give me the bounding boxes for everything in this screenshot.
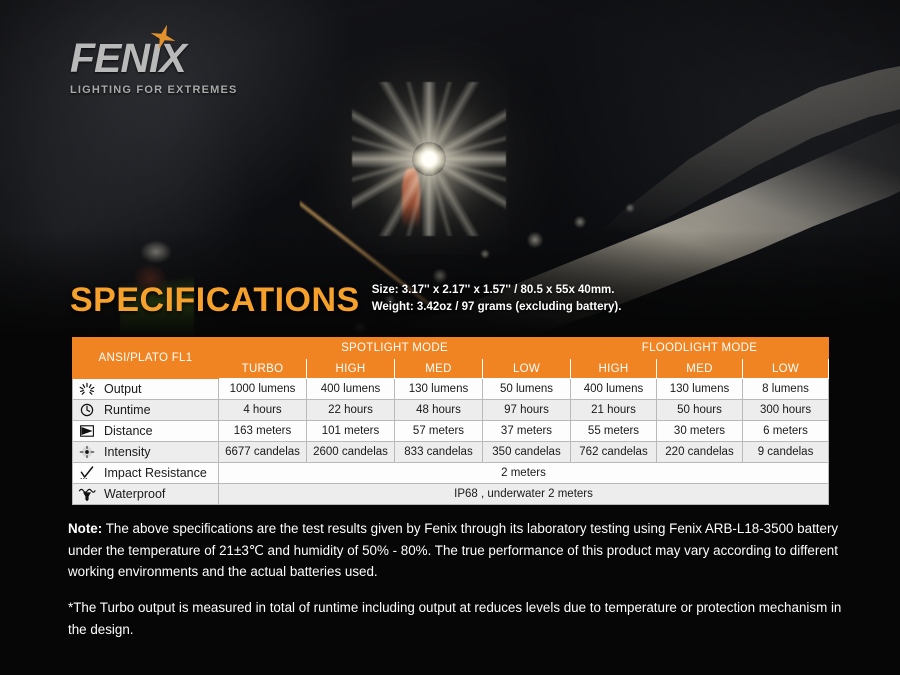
size-line: Size: 3.17'' x 2.17'' x 1.57'' / 80.5 x … [372, 282, 622, 299]
row-label-intensity: Intensity [73, 442, 219, 463]
cell-distance-flood-high: 55 meters [571, 421, 657, 442]
row-label-waterproof: Waterproof [73, 484, 219, 505]
table-row: Impact Resistance 2 meters [73, 463, 829, 484]
impact-drop-check-icon [77, 465, 97, 481]
cell-runtime-spot-low: 97 hours [483, 400, 571, 421]
cell-distance-spot-turbo: 163 meters [219, 421, 307, 442]
row-label-distance: Distance [73, 421, 219, 442]
specifications-page: FENIX LIGHTING FOR EXTREMES SPECIFICATIO… [0, 0, 900, 675]
dimensions-block: Size: 3.17'' x 2.17'' x 1.57'' / 80.5 x … [372, 282, 622, 317]
cell-output-flood-med: 130 lumens [657, 379, 743, 400]
header-floodlight-mode: FLOODLIGHT MODE [571, 338, 829, 359]
cell-distance-spot-high: 101 meters [307, 421, 395, 442]
cell-runtime-spot-high: 22 hours [307, 400, 395, 421]
clock-icon [77, 402, 97, 418]
fenix-wordmark-text: FENIX [70, 35, 186, 81]
note-main-text: The above specifications are the test re… [68, 521, 838, 579]
cell-runtime-flood-low: 300 hours [743, 400, 829, 421]
cell-output-spot-med: 130 lumens [395, 379, 483, 400]
cell-runtime-flood-med: 50 hours [657, 400, 743, 421]
cell-intensity-spot-high: 2600 candelas [307, 442, 395, 463]
note-turbo: *The Turbo output is measured in total o… [68, 597, 856, 640]
cell-distance-spot-low: 37 meters [483, 421, 571, 442]
cell-output-spot-low: 50 lumens [483, 379, 571, 400]
table-row: Waterproof IP68 , underwater 2 meters [73, 484, 829, 505]
fenix-wordmark: FENIX [70, 38, 238, 79]
cell-output-flood-high: 400 lumens [571, 379, 657, 400]
cell-output-spot-high: 400 lumens [307, 379, 395, 400]
row-label-text: Impact Resistance [104, 466, 207, 480]
cell-distance-flood-med: 30 meters [657, 421, 743, 442]
cell-intensity-flood-low: 9 candelas [743, 442, 829, 463]
table-row: Output 1000 lumens 400 lumens 130 lumens… [73, 379, 829, 400]
intensity-dot-icon [77, 444, 97, 460]
cell-intensity-flood-med: 220 candelas [657, 442, 743, 463]
header-floodlight-med: MED [657, 359, 743, 379]
header-spotlight-mode: SPOTLIGHT MODE [219, 338, 571, 359]
specifications-table: ANSI/PLATO FL1 SPOTLIGHT MODE FLOODLIGHT… [72, 337, 829, 505]
cell-intensity-spot-low: 350 candelas [483, 442, 571, 463]
note-main: Note: The above specifications are the t… [68, 518, 856, 583]
row-label-text: Runtime [104, 403, 151, 417]
row-label-text: Intensity [104, 445, 151, 459]
header-floodlight-high: HIGH [571, 359, 657, 379]
page-title: SPECIFICATIONS [70, 283, 360, 317]
cell-runtime-spot-turbo: 4 hours [219, 400, 307, 421]
row-label-output: Output [73, 379, 219, 400]
header-spotlight-med: MED [395, 359, 483, 379]
table-row: Runtime 4 hours 22 hours 48 hours 97 hou… [73, 400, 829, 421]
row-label-runtime: Runtime [73, 400, 219, 421]
header-spotlight-turbo: TURBO [219, 359, 307, 379]
header-floodlight-low: LOW [743, 359, 829, 379]
cell-impact-resistance-value: 2 meters [219, 463, 829, 484]
cell-distance-flood-low: 6 meters [743, 421, 829, 442]
light-burst-icon [77, 381, 97, 397]
header-ansi-plato: ANSI/PLATO FL1 [73, 338, 219, 379]
note-lead-label: Note: [68, 521, 102, 536]
table-group-header-row: ANSI/PLATO FL1 SPOTLIGHT MODE FLOODLIGHT… [73, 338, 829, 359]
row-label-text: Distance [104, 424, 153, 438]
weight-line: Weight: 3.42oz / 97 grams (excluding bat… [372, 299, 622, 316]
cell-intensity-spot-med: 833 candelas [395, 442, 483, 463]
cell-output-flood-low: 8 lumens [743, 379, 829, 400]
row-label-text: Output [104, 382, 142, 396]
table-row: Intensity 6677 candelas 2600 candelas 83… [73, 442, 829, 463]
row-label-text: Waterproof [104, 487, 165, 501]
cell-waterproof-value: IP68 , underwater 2 meters [219, 484, 829, 505]
cell-runtime-flood-high: 21 hours [571, 400, 657, 421]
specifications-heading-block: SPECIFICATIONS Size: 3.17'' x 2.17'' x 1… [70, 282, 621, 317]
cell-runtime-spot-med: 48 hours [395, 400, 483, 421]
row-label-impact-resistance: Impact Resistance [73, 463, 219, 484]
header-spotlight-low: LOW [483, 359, 571, 379]
cell-distance-spot-med: 57 meters [395, 421, 483, 442]
table-row: Distance 163 meters 101 meters 57 meters… [73, 421, 829, 442]
beam-distance-icon [77, 423, 97, 439]
fenix-tagline: LIGHTING FOR EXTREMES [70, 84, 238, 96]
cell-intensity-spot-turbo: 6677 candelas [219, 442, 307, 463]
specifications-table-wrap: ANSI/PLATO FL1 SPOTLIGHT MODE FLOODLIGHT… [72, 337, 828, 505]
cell-output-spot-turbo: 1000 lumens [219, 379, 307, 400]
waterproof-icon [77, 486, 97, 502]
fenix-logo: FENIX LIGHTING FOR EXTREMES [70, 38, 238, 96]
notes-section: Note: The above specifications are the t… [68, 518, 856, 655]
header-spotlight-high: HIGH [307, 359, 395, 379]
cell-intensity-flood-high: 762 candelas [571, 442, 657, 463]
